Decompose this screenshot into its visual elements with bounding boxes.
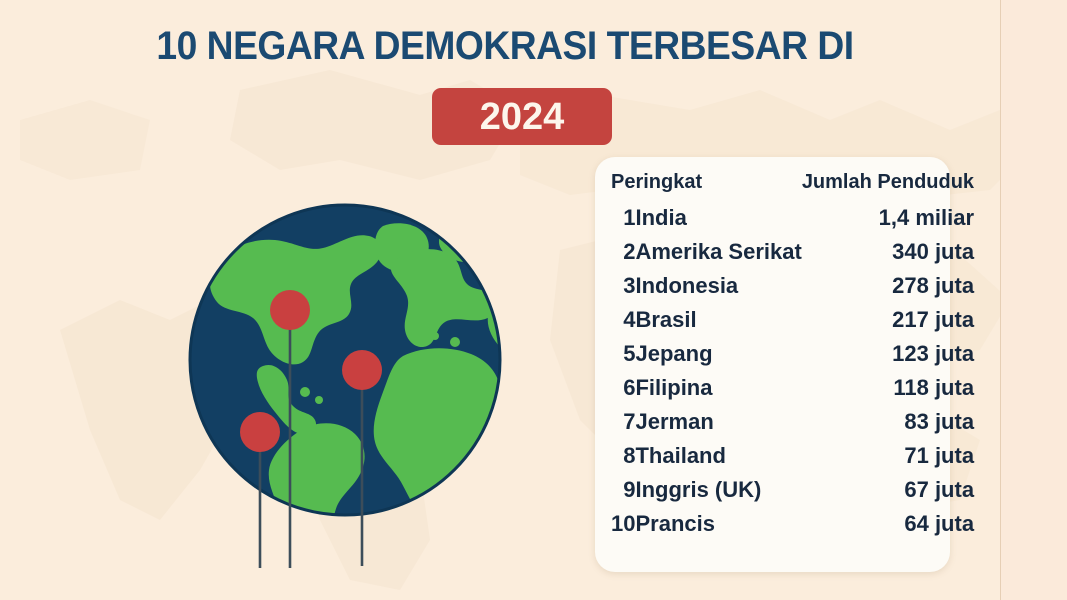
year-badge-label: 2024 <box>480 98 565 136</box>
row-rank: 10 <box>611 507 635 541</box>
row-country: Amerika Serikat <box>635 235 801 269</box>
row-country: Prancis <box>635 507 801 541</box>
row-rank: 6 <box>611 371 635 405</box>
row-country: Jepang <box>635 337 801 371</box>
row-rank: 7 <box>611 405 635 439</box>
infographic-canvas: 10 NEGARA DEMOKRASI TERBESAR DI 2024 <box>0 0 1067 600</box>
row-rank: 8 <box>611 439 635 473</box>
row-population: 83 juta <box>802 405 974 439</box>
table-row: 7 Jerman 83 juta <box>611 405 974 439</box>
background-seam-line <box>1000 0 1001 600</box>
row-rank: 5 <box>611 337 635 371</box>
year-badge: 2024 <box>432 88 612 145</box>
row-country: Jerman <box>635 405 801 439</box>
table-row: 1 India 1,4 miliar <box>611 201 974 235</box>
globe-illustration <box>155 196 545 586</box>
table-row: 6 Filipina 118 juta <box>611 371 974 405</box>
row-rank: 1 <box>611 201 635 235</box>
table-row: 3 Indonesia 278 juta <box>611 269 974 303</box>
row-rank: 3 <box>611 269 635 303</box>
table-row: 9 Inggris (UK) 67 juta <box>611 473 974 507</box>
table-row: 10 Prancis 64 juta <box>611 507 974 541</box>
ranking-card: Peringkat Jumlah Penduduk 1 India 1,4 mi… <box>595 157 950 572</box>
table-row: 8 Thailand 71 juta <box>611 439 974 473</box>
table-row: 5 Jepang 123 juta <box>611 337 974 371</box>
row-country: India <box>635 201 801 235</box>
table-head: Peringkat Jumlah Penduduk <box>611 171 974 201</box>
row-population: 67 juta <box>802 473 974 507</box>
page-title: 10 NEGARA DEMOKRASI TERBESAR DI <box>35 22 974 70</box>
row-rank: 4 <box>611 303 635 337</box>
table-row: 2 Amerika Serikat 340 juta <box>611 235 974 269</box>
row-country: Inggris (UK) <box>635 473 801 507</box>
ranking-table: Peringkat Jumlah Penduduk 1 India 1,4 mi… <box>611 171 974 541</box>
column-header-rank: Peringkat <box>611 171 802 201</box>
column-header-population: Jumlah Penduduk <box>802 171 974 201</box>
row-population: 217 juta <box>802 303 974 337</box>
row-population: 340 juta <box>802 235 974 269</box>
row-rank: 2 <box>611 235 635 269</box>
row-country: Thailand <box>635 439 801 473</box>
row-rank: 9 <box>611 473 635 507</box>
background-right-panel <box>1000 0 1067 600</box>
row-population: 71 juta <box>802 439 974 473</box>
row-population: 123 juta <box>802 337 974 371</box>
table-row: 4 Brasil 217 juta <box>611 303 974 337</box>
table-header-row: Peringkat Jumlah Penduduk <box>611 171 974 201</box>
row-population: 118 juta <box>802 371 974 405</box>
table-body: 1 India 1,4 miliar 2 Amerika Serikat 340… <box>611 201 974 541</box>
row-country: Indonesia <box>635 269 801 303</box>
globe-icon <box>155 196 545 586</box>
row-population: 1,4 miliar <box>802 201 974 235</box>
row-country: Filipina <box>635 371 801 405</box>
row-country: Brasil <box>635 303 801 337</box>
row-population: 64 juta <box>802 507 974 541</box>
row-population: 278 juta <box>802 269 974 303</box>
